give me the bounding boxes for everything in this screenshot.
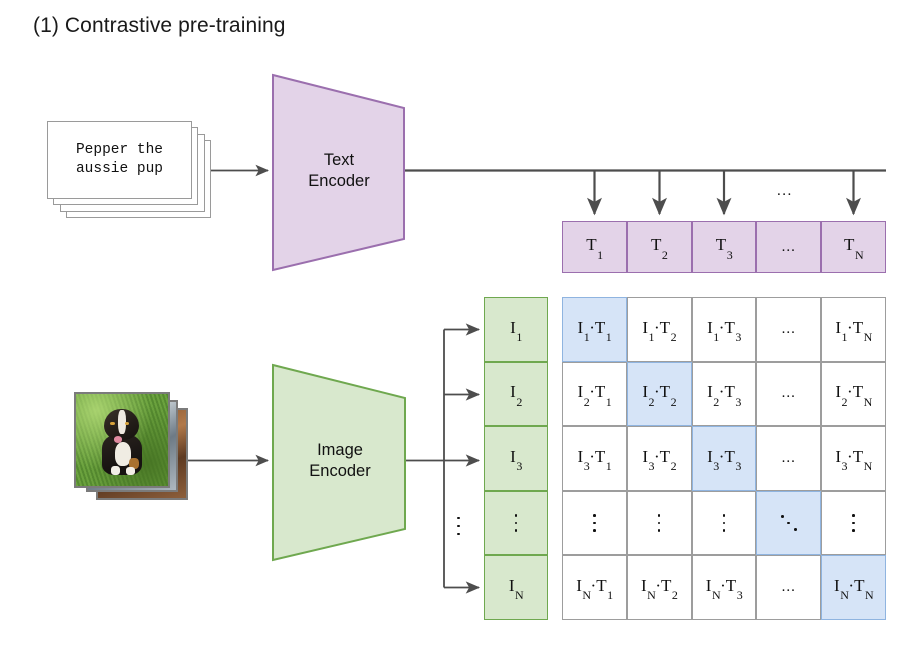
text-encoder-label-line2: Encoder bbox=[308, 171, 369, 192]
similarity-cell-r4-c2[interactable] bbox=[627, 491, 692, 556]
text-embedding-label-1-subscript: 1 bbox=[597, 248, 603, 262]
similarity-cell-r4-c4[interactable] bbox=[756, 491, 821, 556]
similarity-text-term-subscript: 2 bbox=[671, 330, 677, 344]
similarity-image-term-subscript: 2 bbox=[584, 395, 590, 409]
image-embedding-label-2-subscript: 2 bbox=[516, 395, 522, 409]
similarity-ellipsis-vertical bbox=[852, 512, 855, 534]
figure-title: (1) Contrastive pre-training bbox=[33, 14, 286, 38]
similarity-label-r2-c1: I2·T1 bbox=[578, 382, 612, 405]
text-embedding-label-5: TN bbox=[844, 235, 863, 258]
similarity-image-term: I2 bbox=[707, 382, 719, 401]
similarity-text-term-subscript: 3 bbox=[735, 330, 741, 344]
image-embedding-cell-1[interactable]: I1 bbox=[484, 297, 548, 362]
similarity-text-term: TN bbox=[853, 447, 872, 466]
text-embedding-label-2: T2 bbox=[651, 235, 667, 258]
similarity-image-term: I2 bbox=[642, 382, 654, 401]
similarity-cell-r3-c3[interactable]: I3·T3 bbox=[692, 426, 757, 491]
similarity-image-term: I1 bbox=[578, 318, 590, 337]
similarity-image-term: IN bbox=[834, 576, 848, 595]
similarity-image-term-subscript: 1 bbox=[649, 330, 655, 344]
similarity-label-r1-c1: I1·T1 bbox=[578, 318, 612, 341]
figure-canvas: (1) Contrastive pre-training Pepper the bbox=[0, 0, 906, 654]
similarity-cell-r3-c2[interactable]: I3·T2 bbox=[627, 426, 692, 491]
image-embedding-cell-5[interactable]: IN bbox=[484, 555, 548, 620]
similarity-label-r2-c3: I2·T3 bbox=[707, 382, 741, 405]
image-encoder-label-line1: Image bbox=[317, 440, 363, 461]
similarity-text-term-subscript: N bbox=[864, 395, 873, 409]
similarity-text-term-subscript: 2 bbox=[671, 459, 677, 473]
similarity-text-term: T1 bbox=[595, 382, 611, 401]
similarity-image-term-subscript: 1 bbox=[842, 330, 848, 344]
similarity-image-term-subscript: 1 bbox=[584, 330, 590, 344]
similarity-text-term: T3 bbox=[726, 576, 742, 595]
text-encoder-label: Text Encoder bbox=[273, 145, 405, 197]
text-embedding-label-5-subscript: N bbox=[855, 248, 864, 262]
similarity-label-r1-c5: I1·TN bbox=[835, 318, 871, 341]
similarity-text-term: T2 bbox=[661, 576, 677, 595]
similarity-cell-r5-c4[interactable]: ... bbox=[756, 555, 821, 620]
similarity-cell-r5-c1[interactable]: IN·T1 bbox=[562, 555, 627, 620]
similarity-image-term: IN bbox=[576, 576, 590, 595]
image-embedding-label-5: IN bbox=[509, 576, 523, 599]
similarity-text-term-subscript: N bbox=[865, 588, 874, 602]
similarity-ellipsis-horizontal: ... bbox=[782, 450, 796, 467]
image-embedding-label-5-subscript: N bbox=[515, 588, 524, 602]
similarity-cell-r3-c4[interactable]: ... bbox=[756, 426, 821, 491]
similarity-image-term-subscript: 3 bbox=[584, 459, 590, 473]
image-embedding-label-1: I1 bbox=[510, 318, 522, 341]
similarity-image-term-subscript: 2 bbox=[842, 395, 848, 409]
similarity-cell-r4-c5[interactable] bbox=[821, 491, 886, 556]
similarity-image-term-subscript: N bbox=[582, 588, 591, 602]
similarity-text-term-subscript: 2 bbox=[671, 395, 677, 409]
similarity-text-term: T1 bbox=[595, 318, 611, 337]
photo-dog-paw-left bbox=[111, 466, 120, 475]
text-embedding-label-2-subscript: 2 bbox=[662, 248, 668, 262]
similarity-cell-r3-c5[interactable]: I3·TN bbox=[821, 426, 886, 491]
similarity-image-term: IN bbox=[706, 576, 720, 595]
similarity-text-term-subscript: 1 bbox=[606, 330, 612, 344]
similarity-ellipsis-vertical bbox=[593, 512, 596, 534]
similarity-cell-r2-c1[interactable]: I2·T1 bbox=[562, 362, 627, 427]
similarity-cell-r5-c3[interactable]: IN·T3 bbox=[692, 555, 757, 620]
caption-line-1: Pepper the bbox=[76, 141, 163, 160]
photo-dog-eye-left bbox=[110, 422, 115, 426]
similarity-text-term: T2 bbox=[660, 382, 676, 401]
similarity-image-term: I3 bbox=[578, 447, 590, 466]
similarity-ellipsis-vertical bbox=[658, 512, 661, 534]
similarity-text-term: TN bbox=[854, 576, 873, 595]
similarity-text-term-subscript: 1 bbox=[606, 459, 612, 473]
similarity-label-r5-c3: IN·T3 bbox=[706, 576, 742, 599]
similarity-image-term-subscript: 2 bbox=[713, 395, 719, 409]
similarity-text-term: T1 bbox=[595, 447, 611, 466]
image-embedding-label-3-subscript: 3 bbox=[516, 459, 522, 473]
similarity-text-term: T1 bbox=[596, 576, 612, 595]
photo-card-front-puppy bbox=[74, 392, 170, 488]
similarity-cell-r1-c1[interactable]: I1·T1 bbox=[562, 297, 627, 362]
similarity-ellipsis-horizontal: ... bbox=[782, 385, 796, 402]
similarity-image-term: IN bbox=[641, 576, 655, 595]
similarity-cell-r5-c2[interactable]: IN·T2 bbox=[627, 555, 692, 620]
similarity-image-term-subscript: N bbox=[840, 588, 849, 602]
similarity-image-term-subscript: 3 bbox=[649, 459, 655, 473]
similarity-label-r3-c3: I3·T3 bbox=[707, 447, 741, 470]
similarity-ellipsis-horizontal: ... bbox=[782, 579, 796, 596]
similarity-image-term: I2 bbox=[578, 382, 590, 401]
similarity-cell-r1-c2[interactable]: I1·T2 bbox=[627, 297, 692, 362]
image-encoder-label-line2: Encoder bbox=[309, 461, 370, 482]
image-branch-ellipsis-icon bbox=[457, 514, 460, 538]
text-embedding-cell-2[interactable]: T2 bbox=[627, 221, 692, 273]
similarity-text-term-subscript: 1 bbox=[606, 395, 612, 409]
similarity-label-r3-c2: I3·T2 bbox=[642, 447, 676, 470]
caption-line-2: aussie pup bbox=[76, 160, 163, 179]
similarity-text-term-subscript: 2 bbox=[672, 588, 678, 602]
similarity-image-term: I1 bbox=[642, 318, 654, 337]
image-embedding-label-3: I3 bbox=[510, 447, 522, 470]
similarity-cell-r4-c3[interactable] bbox=[692, 491, 757, 556]
similarity-text-term: TN bbox=[853, 382, 872, 401]
similarity-text-term: T2 bbox=[660, 447, 676, 466]
similarity-text-term: T3 bbox=[724, 318, 740, 337]
text-embedding-label-1: T1 bbox=[586, 235, 602, 258]
similarity-cell-r2-c2[interactable]: I2·T2 bbox=[627, 362, 692, 427]
similarity-label-r3-c5: I3·TN bbox=[835, 447, 871, 470]
similarity-image-term-subscript: 3 bbox=[842, 459, 848, 473]
similarity-image-term-subscript: 2 bbox=[649, 395, 655, 409]
similarity-ellipsis-diagonal bbox=[779, 513, 799, 533]
photo-dog-tongue bbox=[114, 436, 122, 442]
similarity-text-term-subscript: 3 bbox=[735, 459, 741, 473]
similarity-text-term: T3 bbox=[724, 447, 740, 466]
text-embedding-cell-4[interactable]: ... bbox=[756, 221, 821, 273]
similarity-cell-r5-c5[interactable]: IN·TN bbox=[821, 555, 886, 620]
similarity-cell-r1-c5[interactable]: I1·TN bbox=[821, 297, 886, 362]
caption-card-text: Pepper the aussie pup bbox=[47, 121, 192, 199]
text-embedding-cell-3[interactable]: T3 bbox=[692, 221, 757, 273]
similarity-label-r2-c2: I2·T2 bbox=[642, 382, 676, 405]
text-bus-ellipsis: ... bbox=[777, 183, 793, 200]
similarity-label-r1-c3: I1·T3 bbox=[707, 318, 741, 341]
similarity-label-r3-c1: I3·T1 bbox=[578, 447, 612, 470]
similarity-text-term: TN bbox=[853, 318, 872, 337]
similarity-text-term-subscript: N bbox=[864, 459, 873, 473]
image-embedding-cell-3[interactable]: I3 bbox=[484, 426, 548, 491]
similarity-image-term-subscript: N bbox=[647, 588, 656, 602]
image-encoder-label: Image Encoder bbox=[274, 435, 406, 487]
similarity-image-term: I3 bbox=[707, 447, 719, 466]
similarity-image-term-subscript: 3 bbox=[713, 459, 719, 473]
similarity-label-r5-c2: IN·T2 bbox=[641, 576, 677, 599]
similarity-text-term-subscript: N bbox=[864, 330, 873, 344]
similarity-image-term: I3 bbox=[642, 447, 654, 466]
similarity-cell-r2-c3[interactable]: I2·T3 bbox=[692, 362, 757, 427]
text-embedding-cell-5[interactable]: TN bbox=[821, 221, 886, 273]
photo-dog-paw-right bbox=[126, 467, 135, 475]
similarity-ellipsis-vertical bbox=[723, 512, 726, 534]
image-embedding-label-1-subscript: 1 bbox=[516, 330, 522, 344]
text-encoder-label-line1: Text bbox=[324, 150, 354, 171]
similarity-text-term: T2 bbox=[660, 318, 676, 337]
similarity-cell-r2-c5[interactable]: I2·TN bbox=[821, 362, 886, 427]
text-embedding-label-3-subscript: 3 bbox=[727, 248, 733, 262]
text-embedding-label-3: T3 bbox=[716, 235, 732, 258]
similarity-cell-r4-c1[interactable] bbox=[562, 491, 627, 556]
image-embedding-label-2: I2 bbox=[510, 382, 522, 405]
similarity-image-term-subscript: 1 bbox=[713, 330, 719, 344]
similarity-label-r5-c1: IN·T1 bbox=[576, 576, 612, 599]
image-embedding-cell-4[interactable] bbox=[484, 491, 548, 556]
similarity-text-term-subscript: 1 bbox=[607, 588, 613, 602]
text-embedding-cell-1[interactable]: T1 bbox=[562, 221, 627, 273]
text-embedding-ellipsis: ... bbox=[782, 239, 796, 256]
similarity-text-term-subscript: 3 bbox=[737, 588, 743, 602]
similarity-image-term: I1 bbox=[835, 318, 847, 337]
similarity-text-term: T3 bbox=[724, 382, 740, 401]
similarity-image-term: I3 bbox=[835, 447, 847, 466]
image-embedding-cell-2[interactable]: I2 bbox=[484, 362, 548, 427]
similarity-image-term: I2 bbox=[835, 382, 847, 401]
similarity-cell-r1-c3[interactable]: I1·T3 bbox=[692, 297, 757, 362]
similarity-image-term: I1 bbox=[707, 318, 719, 337]
similarity-label-r1-c2: I1·T2 bbox=[642, 318, 676, 341]
image-embedding-ellipsis bbox=[515, 512, 518, 534]
similarity-cell-r3-c1[interactable]: I3·T1 bbox=[562, 426, 627, 491]
similarity-label-r2-c5: I2·TN bbox=[835, 382, 871, 405]
similarity-cell-r1-c4[interactable]: ... bbox=[756, 297, 821, 362]
similarity-label-r5-c5: IN·TN bbox=[834, 576, 873, 599]
similarity-image-term-subscript: N bbox=[712, 588, 721, 602]
similarity-cell-r2-c4[interactable]: ... bbox=[756, 362, 821, 427]
similarity-ellipsis-horizontal: ... bbox=[782, 321, 796, 338]
similarity-text-term-subscript: 3 bbox=[735, 395, 741, 409]
